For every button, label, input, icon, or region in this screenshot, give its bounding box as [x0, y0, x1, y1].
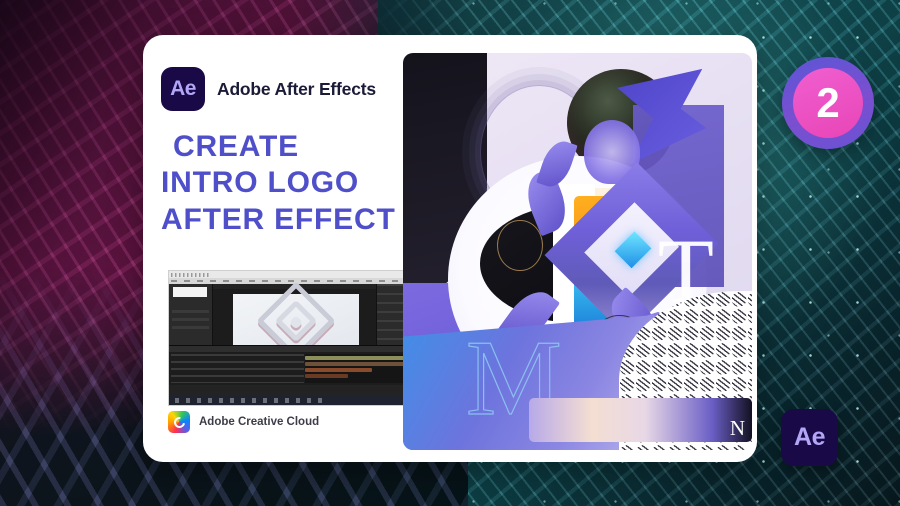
screenshot-stage: Ae Adobe After Effects CREATE INTRO LOGO… — [0, 0, 900, 506]
brand-row: Ae Adobe After Effects — [161, 67, 419, 111]
cloud-glyph-icon — [171, 414, 186, 429]
status-badge: 2 — [782, 57, 874, 149]
screenshot-timeline-layer-list — [171, 354, 304, 383]
status-badge-count: 2 — [816, 82, 839, 124]
page-title: CREATE INTRO LOGO AFTER EFFECT — [161, 129, 419, 238]
screenshot-timeline-header — [169, 346, 415, 352]
artwork-letter-n: N — [730, 416, 745, 441]
screenshot-body — [169, 284, 415, 395]
screenshot-tool-thumbnail — [173, 287, 207, 297]
abstract-poster-artwork: T M N — [403, 53, 752, 450]
after-effects-workspace-screenshot — [168, 270, 416, 406]
screenshot-windows-taskbar — [169, 395, 415, 405]
screenshot-comp-canvas — [233, 294, 360, 347]
timeline-track-bar — [305, 374, 348, 378]
screenshot-timeline — [169, 345, 415, 385]
screenshot-timeline-tracks — [305, 354, 413, 383]
course-card: Ae Adobe After Effects CREATE INTRO LOGO… — [143, 35, 757, 462]
brand-name: Adobe After Effects — [217, 79, 376, 100]
adobe-after-effects-icon: Ae — [161, 67, 205, 111]
headline-line-3: AFTER EFFECT — [161, 202, 419, 238]
artwork-gradient-bar — [529, 398, 752, 442]
artwork-thin-gold-circle — [497, 220, 542, 272]
timeline-track-bar — [305, 356, 413, 360]
status-badge-inner: 2 — [793, 68, 863, 138]
headline-line-2: INTRO LOGO — [161, 165, 419, 201]
creative-cloud-footer: Adobe Creative Cloud — [168, 411, 319, 433]
screenshot-titlebar-text — [171, 273, 211, 277]
adobe-after-effects-icon-floating: Ae — [781, 409, 838, 466]
creative-cloud-label: Adobe Creative Cloud — [199, 416, 319, 428]
adobe-after-effects-icon-label: Ae — [170, 77, 196, 101]
screenshot-project-rows — [172, 310, 209, 331]
screenshot-titlebar — [169, 271, 415, 278]
timeline-track-bar — [305, 368, 372, 372]
card-left-column: Ae Adobe After Effects CREATE INTRO LOGO… — [161, 55, 419, 445]
adobe-creative-cloud-icon — [168, 411, 190, 433]
headline-line-1: CREATE — [161, 129, 419, 165]
timeline-track-bar — [305, 362, 413, 366]
adobe-after-effects-icon-floating-label: Ae — [794, 423, 825, 452]
